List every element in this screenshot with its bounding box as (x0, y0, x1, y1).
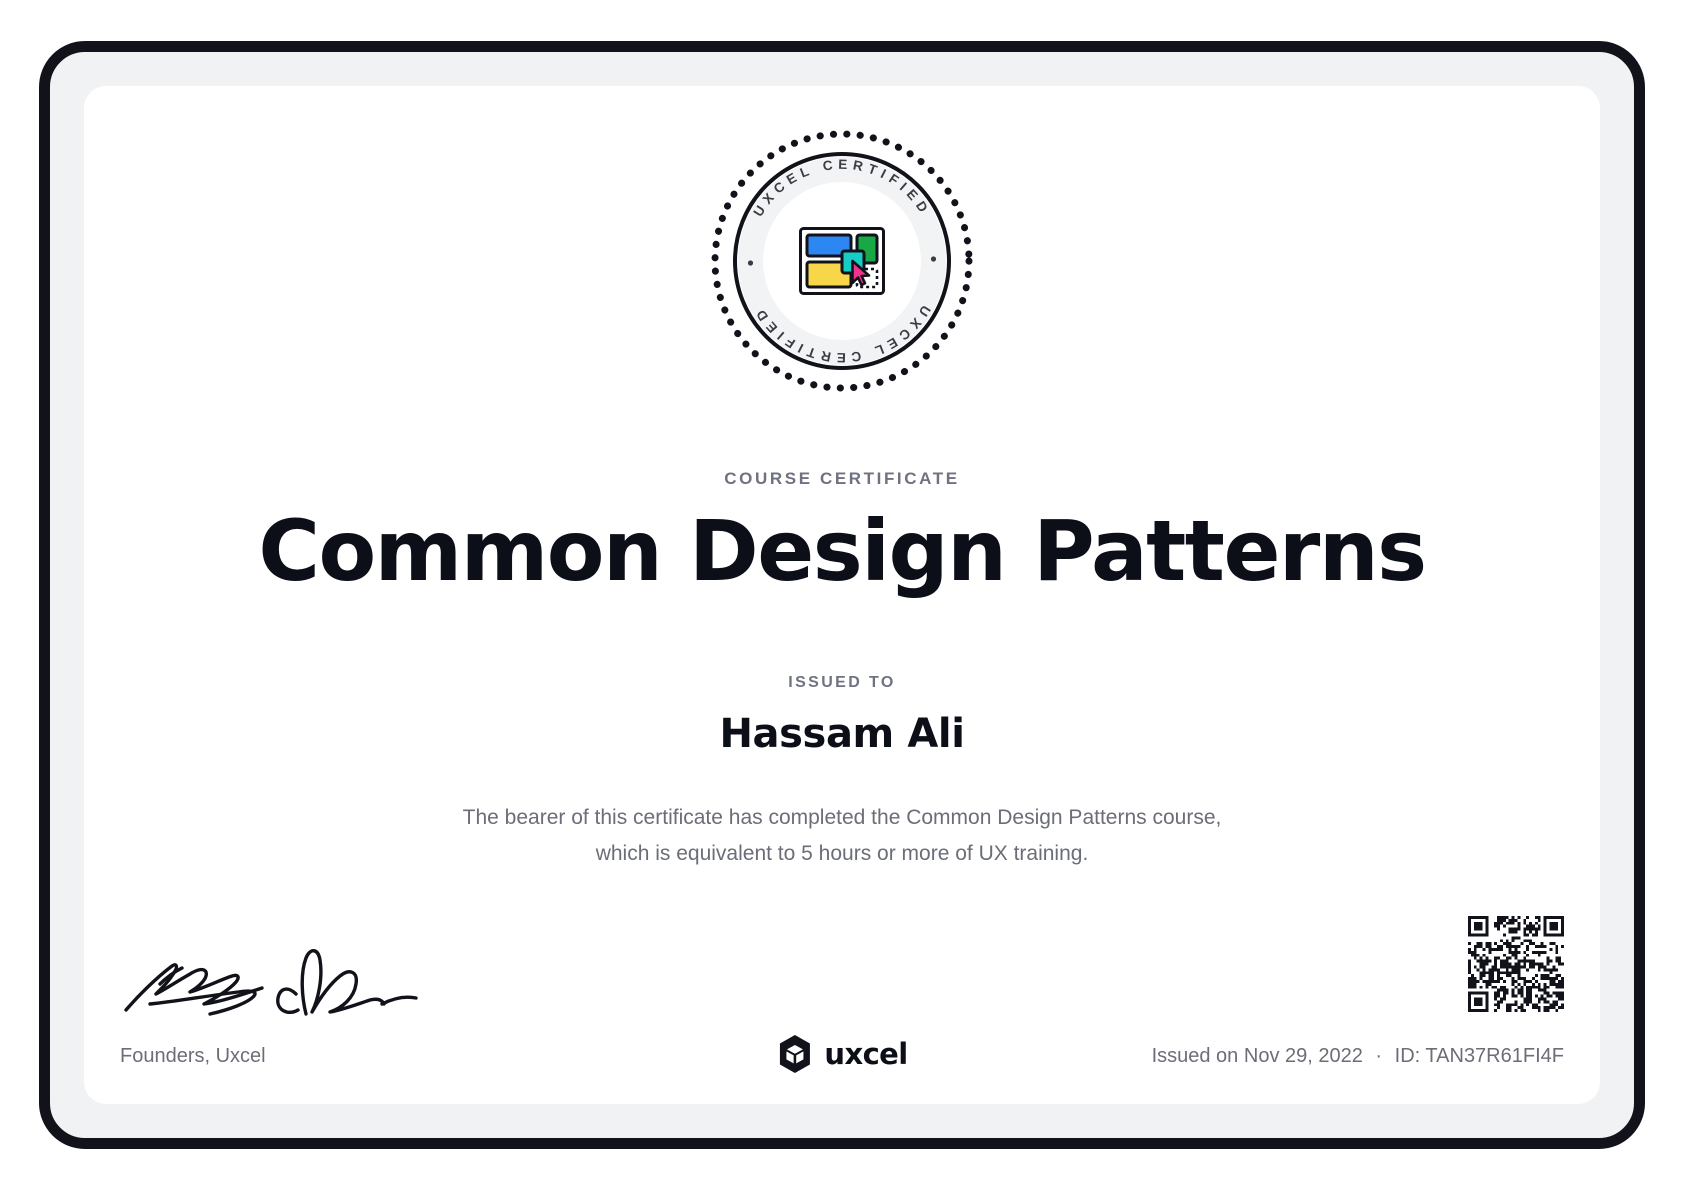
certificate-frame: UXCEL CERTIFIED UXCEL CERTIFIED (39, 41, 1645, 1149)
id-value: TAN37R61FI4F (1425, 1045, 1564, 1067)
signature-caption: Founders, Uxcel (120, 1045, 266, 1068)
issued-meta: Issued on Nov 29, 2022 · ID: TAN37R61FI4… (1152, 1045, 1564, 1068)
certificate-page: UXCEL CERTIFIED UXCEL CERTIFIED (0, 0, 1684, 1190)
issued-to-label: ISSUED TO (84, 674, 1600, 692)
uxcel-wordmark: uxcel (824, 1037, 907, 1071)
recipient-name: Hassam Ali (84, 711, 1600, 757)
uxcel-cube-logo (776, 1034, 813, 1074)
design-patterns-window-icon (799, 227, 885, 295)
signature-strokes (120, 926, 420, 1018)
uxcel-brand: uxcel (776, 1034, 907, 1074)
issued-on-prefix: Issued on (1152, 1045, 1239, 1067)
id-label: ID: (1395, 1045, 1421, 1067)
meta-separator: · (1368, 1045, 1389, 1067)
issued-on-date: Nov 29, 2022 (1244, 1045, 1363, 1067)
certificate-title: Common Design Patterns (84, 506, 1600, 597)
certificate-card: UXCEL CERTIFIED UXCEL CERTIFIED (84, 86, 1600, 1104)
uxcel-certified-badge: UXCEL CERTIFIED UXCEL CERTIFIED (707, 126, 977, 396)
founders-signatures (120, 926, 420, 1018)
qr-code-graphic (1468, 916, 1564, 1012)
kicker-label: COURSE CERTIFICATE (84, 469, 1600, 489)
certificate-description: The bearer of this certificate has compl… (462, 800, 1222, 872)
verification-qr-code[interactable] (1468, 916, 1564, 1012)
